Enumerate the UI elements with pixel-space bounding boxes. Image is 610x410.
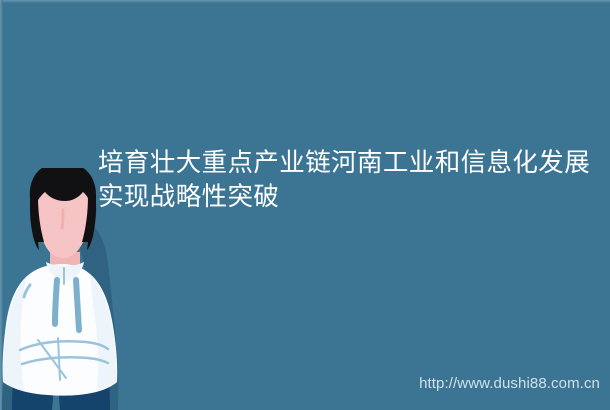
image-canvas: 培育壮大重点产业链河南工业和信息化发展实现战略性突破 http://www.du… (0, 0, 610, 410)
watermark-url: http://www.dushi88.com.cn (419, 375, 600, 392)
top-bevel-edge (0, 0, 610, 3)
headline-text: 培育壮大重点产业链河南工业和信息化发展实现战略性突破 (98, 146, 598, 214)
